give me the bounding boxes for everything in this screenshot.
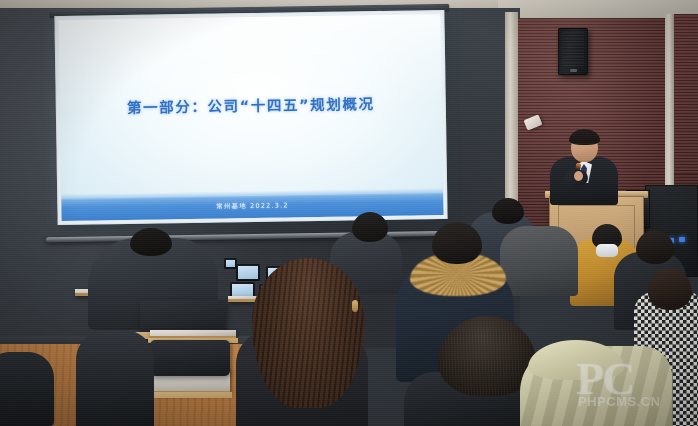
audience-head (130, 228, 172, 256)
face-mask-icon (596, 244, 618, 257)
audience-person (76, 330, 154, 426)
glasses-icon (573, 143, 596, 148)
monitor-screen (226, 260, 235, 267)
desk-edge (150, 392, 232, 398)
hair-clip-icon (352, 300, 358, 312)
monitor-screen (232, 284, 253, 296)
screen-frame: 第一部分：公司“十四五”规划概况 常州基地 2022.3.2 (54, 10, 447, 225)
slide-footer-text: 常州基地 2022.3.2 (61, 197, 443, 213)
desk-monitor-small (224, 258, 237, 269)
speaker-led (570, 69, 577, 72)
long-hair (252, 258, 364, 408)
slide-title: 第一部分：公司“十四五”规划概况 (60, 92, 442, 119)
presenter (548, 131, 620, 201)
wall-speaker-icon (558, 28, 588, 75)
presenter-hand (574, 171, 583, 181)
projection-screen: 第一部分：公司“十四五”规划概况 常州基地 2022.3.2 (54, 10, 447, 225)
slide-surface: 第一部分：公司“十四五”规划概况 常州基地 2022.3.2 (58, 14, 443, 221)
monitor-screen (238, 266, 258, 279)
chair-back (150, 340, 230, 376)
slide-footer-bar: 常州基地 2022.3.2 (61, 193, 443, 221)
audience-person (0, 352, 54, 426)
wall-pillar-right (665, 14, 674, 194)
audience-head (492, 198, 524, 224)
desk-monitor (236, 264, 260, 281)
audience-person-grey-hood (500, 226, 578, 296)
red-brick-wall-far (672, 14, 698, 174)
audience-head (648, 268, 692, 310)
presentation-photo: 第一部分：公司“十四五”规划概况 常州基地 2022.3.2 (0, 0, 698, 426)
audience-head (636, 230, 674, 264)
rack-led-blue-3 (679, 237, 685, 242)
audience-head (432, 222, 482, 264)
audience-head (352, 212, 388, 242)
